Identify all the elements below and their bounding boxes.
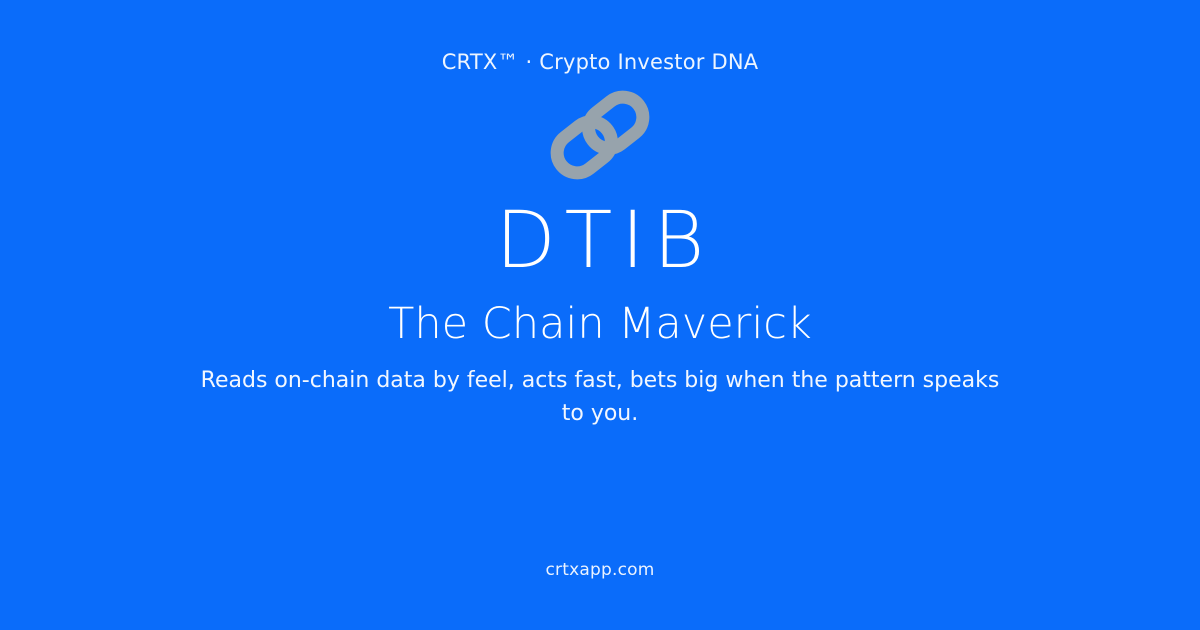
link-chain-icon-glyph — [547, 86, 653, 184]
archetype-description: Reads on-chain data by feel, acts fast, … — [190, 364, 1010, 430]
archetype-share-card: CRTX™ · Crypto Investor DNA DTIB The Cha… — [0, 0, 1200, 630]
archetype-code: DTIB — [0, 198, 1200, 284]
brand-tagline: CRTX™ · Crypto Investor DNA — [0, 48, 1200, 76]
footer-url: crtxapp.com — [0, 559, 1200, 582]
link-chain-icon — [0, 86, 1200, 186]
archetype-name: The Chain Maverick — [0, 298, 1200, 351]
